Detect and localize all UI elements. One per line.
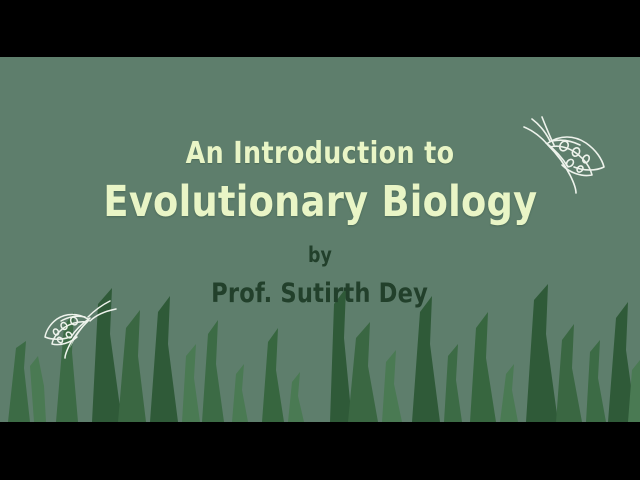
- butterfly-icon: [44, 295, 120, 361]
- video-title-card: An Introduction to Evolutionary Biology …: [0, 0, 640, 480]
- title-line-primary: An Introduction to: [186, 139, 455, 169]
- letterbox-bar-bottom: [0, 422, 640, 480]
- byline-label: by: [308, 245, 332, 266]
- butterfly-icon: [512, 105, 616, 197]
- title-line-secondary: Evolutionary Biology: [103, 181, 537, 224]
- letterbox-bar-top: [0, 0, 640, 57]
- slide-canvas: An Introduction to Evolutionary Biology …: [0, 57, 640, 422]
